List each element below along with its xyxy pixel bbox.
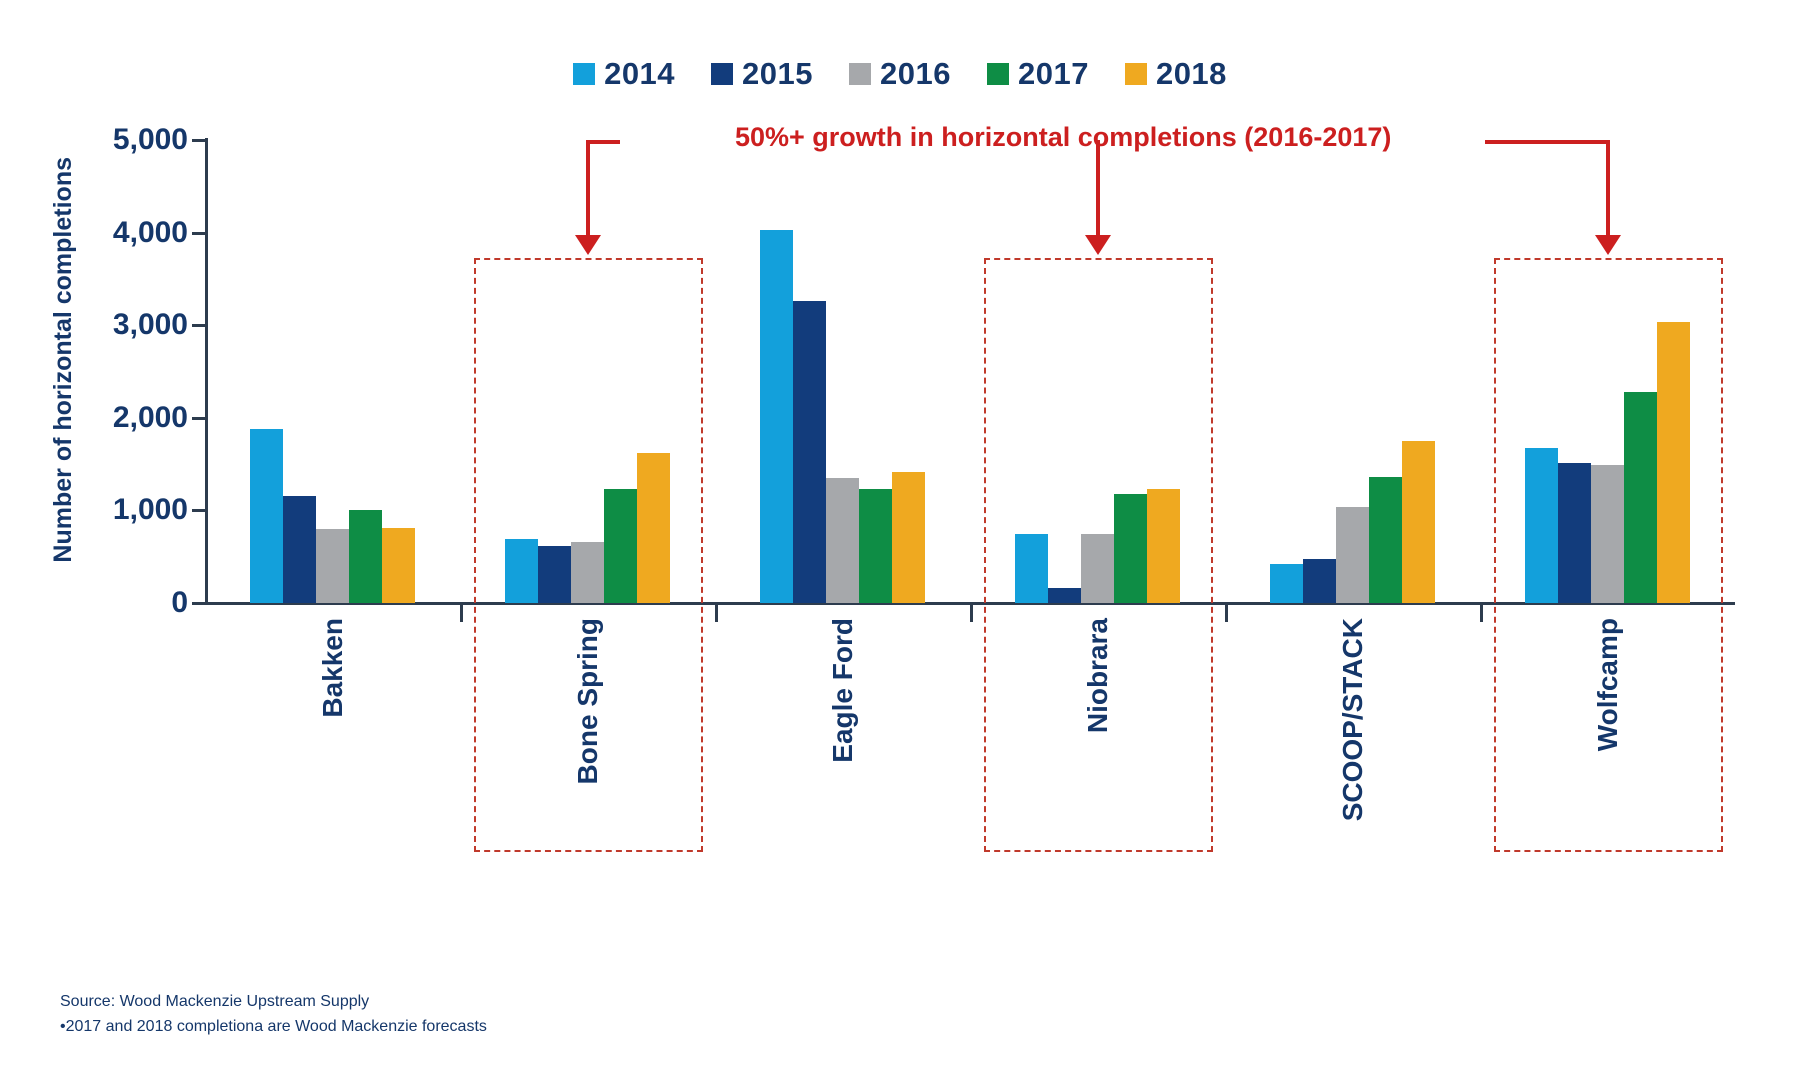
y-tick-mark	[192, 509, 206, 512]
category-label-niobrara: Niobrara	[970, 612, 1225, 872]
bar-2014[interactable]	[250, 429, 283, 603]
legend-label: 2015	[742, 58, 813, 89]
bar-2014[interactable]	[1270, 564, 1303, 603]
bar-2015[interactable]	[1303, 559, 1336, 603]
annotation-text: 50%+ growth in horizontal completions (2…	[735, 122, 1391, 153]
annotation-arrow-stem	[1606, 140, 1610, 235]
category-label-text: Eagle Ford	[827, 618, 859, 763]
y-tick-label: 0	[28, 586, 188, 620]
bar-2015[interactable]	[1048, 588, 1081, 603]
y-axis-title: Number of horizontal completions	[46, 120, 80, 600]
category-label-bone-spring: Bone Spring	[460, 612, 715, 872]
legend-item-2016[interactable]: 2016	[849, 58, 951, 89]
y-tick-mark	[192, 417, 206, 420]
bar-group-scoop-stack	[1225, 140, 1480, 603]
y-tick-mark	[192, 602, 206, 605]
bar-2016[interactable]	[571, 542, 604, 603]
legend-swatch-icon	[1125, 63, 1147, 85]
legend-item-2014[interactable]: 2014	[573, 58, 675, 89]
bar-2016[interactable]	[1336, 507, 1369, 603]
y-tick-mark	[192, 232, 206, 235]
source-line-2: •2017 and 2018 completiona are Wood Mack…	[60, 1014, 487, 1040]
bar-2014[interactable]	[760, 230, 793, 603]
legend-label: 2017	[1018, 58, 1089, 89]
legend-item-2015[interactable]: 2015	[711, 58, 813, 89]
bar-2018[interactable]	[637, 453, 670, 603]
annotation-arrow-head-icon	[1085, 235, 1111, 255]
bar-2015[interactable]	[283, 496, 316, 603]
y-tick-label: 4,000	[28, 216, 188, 250]
legend-swatch-icon	[987, 63, 1009, 85]
bar-2016[interactable]	[316, 529, 349, 603]
legend-label: 2018	[1156, 58, 1227, 89]
bar-2018[interactable]	[1402, 441, 1435, 604]
y-tick-mark	[192, 139, 206, 142]
legend-item-2017[interactable]: 2017	[987, 58, 1089, 89]
bar-2017[interactable]	[349, 510, 382, 603]
category-label-text: Bone Spring	[572, 618, 604, 784]
annotation-arrow-stem	[1096, 140, 1100, 235]
legend-swatch-icon	[711, 63, 733, 85]
legend-label: 2014	[604, 58, 675, 89]
bar-2017[interactable]	[859, 489, 892, 603]
y-tick-label: 5,000	[28, 123, 188, 157]
legend-swatch-icon	[849, 63, 871, 85]
legend-item-2018[interactable]: 2018	[1125, 58, 1227, 89]
bar-group-bakken	[205, 140, 460, 603]
y-tick-label: 3,000	[28, 308, 188, 342]
chart-canvas: 20142015201620172018 Number of horizonta…	[0, 0, 1800, 1080]
x-axis-category-labels: BakkenBone SpringEagle FordNiobraraSCOOP…	[205, 612, 1735, 872]
bar-2015[interactable]	[1558, 463, 1591, 603]
bar-group-eagle-ford	[715, 140, 970, 603]
bar-2016[interactable]	[1081, 534, 1114, 603]
annotation-connector-right	[1485, 140, 1610, 144]
chart-legend: 20142015201620172018	[0, 58, 1800, 89]
bar-groups	[205, 140, 1735, 603]
category-label-wolfcamp: Wolfcamp	[1480, 612, 1735, 872]
category-label-text: Wolfcamp	[1592, 618, 1624, 751]
bar-2017[interactable]	[1114, 494, 1147, 603]
bar-2014[interactable]	[505, 539, 538, 603]
y-tick-mark	[192, 324, 206, 327]
bar-2014[interactable]	[1015, 534, 1048, 603]
bar-2015[interactable]	[538, 546, 571, 603]
source-note: Source: Wood Mackenzie Upstream Supply •…	[60, 989, 487, 1040]
bar-2015[interactable]	[793, 301, 826, 603]
bar-2017[interactable]	[604, 489, 637, 603]
annotation-arrow-head-icon	[575, 235, 601, 255]
source-line-1: Source: Wood Mackenzie Upstream Supply	[60, 989, 487, 1015]
y-tick-label: 1,000	[28, 493, 188, 527]
category-label-scoop-stack: SCOOP/STACK	[1225, 612, 1480, 872]
bar-2018[interactable]	[382, 528, 415, 603]
category-label-text: Bakken	[317, 618, 349, 718]
bar-2017[interactable]	[1624, 392, 1657, 603]
category-label-bakken: Bakken	[205, 612, 460, 872]
category-label-text: Niobrara	[1082, 618, 1114, 733]
bar-2016[interactable]	[826, 478, 859, 603]
bar-2017[interactable]	[1369, 477, 1402, 603]
bar-2014[interactable]	[1525, 448, 1558, 603]
y-tick-label: 2,000	[28, 401, 188, 435]
annotation-arrow-head-icon	[1595, 235, 1621, 255]
bar-2018[interactable]	[1657, 322, 1690, 603]
category-label-eagle-ford: Eagle Ford	[715, 612, 970, 872]
legend-label: 2016	[880, 58, 951, 89]
bar-2018[interactable]	[892, 472, 925, 603]
legend-swatch-icon	[573, 63, 595, 85]
annotation-arrow-stem	[586, 140, 590, 235]
category-label-text: SCOOP/STACK	[1337, 618, 1369, 821]
annotation-connector-left	[586, 140, 621, 144]
bar-2016[interactable]	[1591, 465, 1624, 603]
bar-2018[interactable]	[1147, 489, 1180, 603]
